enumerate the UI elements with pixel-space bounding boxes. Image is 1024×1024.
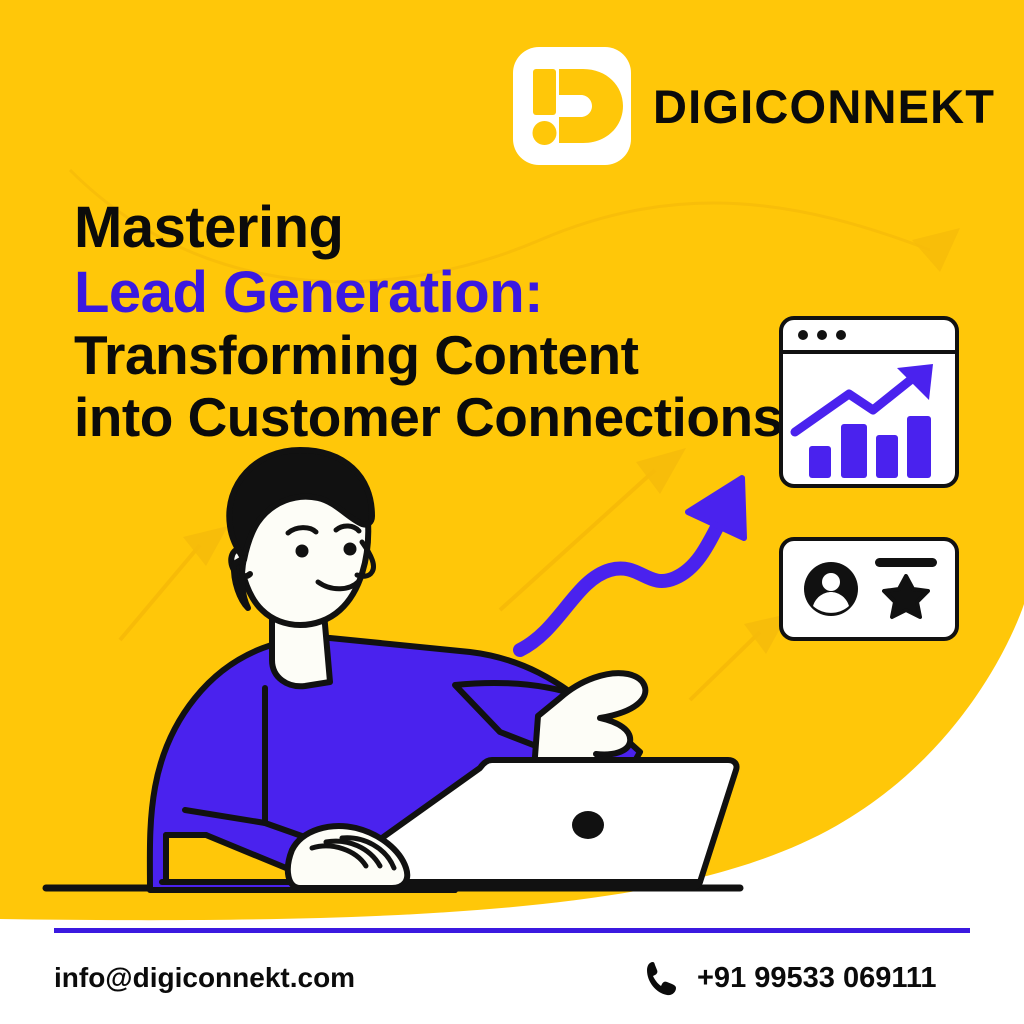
analytics-chart-card — [779, 316, 959, 488]
headline-line-2: Lead Generation: — [74, 261, 783, 326]
digiconnekt-d-logo-icon — [513, 47, 631, 165]
star-icon — [882, 574, 930, 620]
window-dot-icon — [836, 330, 846, 340]
brand-logo[interactable]: DIGICONNEKT — [513, 47, 995, 165]
bar-4 — [907, 416, 931, 478]
footer-email[interactable]: info@digiconnekt.com — [54, 962, 355, 994]
contact-rating-card — [779, 537, 959, 641]
bar-chart-plot — [783, 354, 955, 484]
marketing-poster: DIGICONNEKT Mastering Lead Generation: T… — [0, 0, 1024, 1024]
phone-icon — [645, 959, 679, 997]
brand-name: DIGICONNEKT — [653, 83, 995, 130]
headline-line-3: Transforming Content — [74, 325, 783, 386]
headline-line-1: Mastering — [74, 196, 783, 261]
bar-2 — [841, 424, 867, 478]
growth-arrow-icon — [520, 478, 744, 650]
footer-phone-number: +91 99533 069111 — [697, 962, 937, 995]
footer: info@digiconnekt.com +91 99533 069111 — [0, 948, 1024, 1008]
bar-1 — [809, 446, 831, 478]
headline-block: Mastering Lead Generation: Transforming … — [74, 196, 783, 448]
user-avatar-icon — [801, 559, 861, 619]
man-with-laptop-illustration — [0, 430, 780, 920]
line-bar-icon — [875, 558, 937, 567]
window-dot-icon — [817, 330, 827, 340]
bar-3 — [876, 435, 898, 478]
card-titlebar — [783, 320, 955, 354]
window-dot-icon — [798, 330, 808, 340]
footer-phone-group[interactable]: +91 99533 069111 — [645, 959, 937, 997]
footer-divider — [54, 928, 970, 933]
headline-line-4: into Customer Connections — [74, 387, 783, 448]
